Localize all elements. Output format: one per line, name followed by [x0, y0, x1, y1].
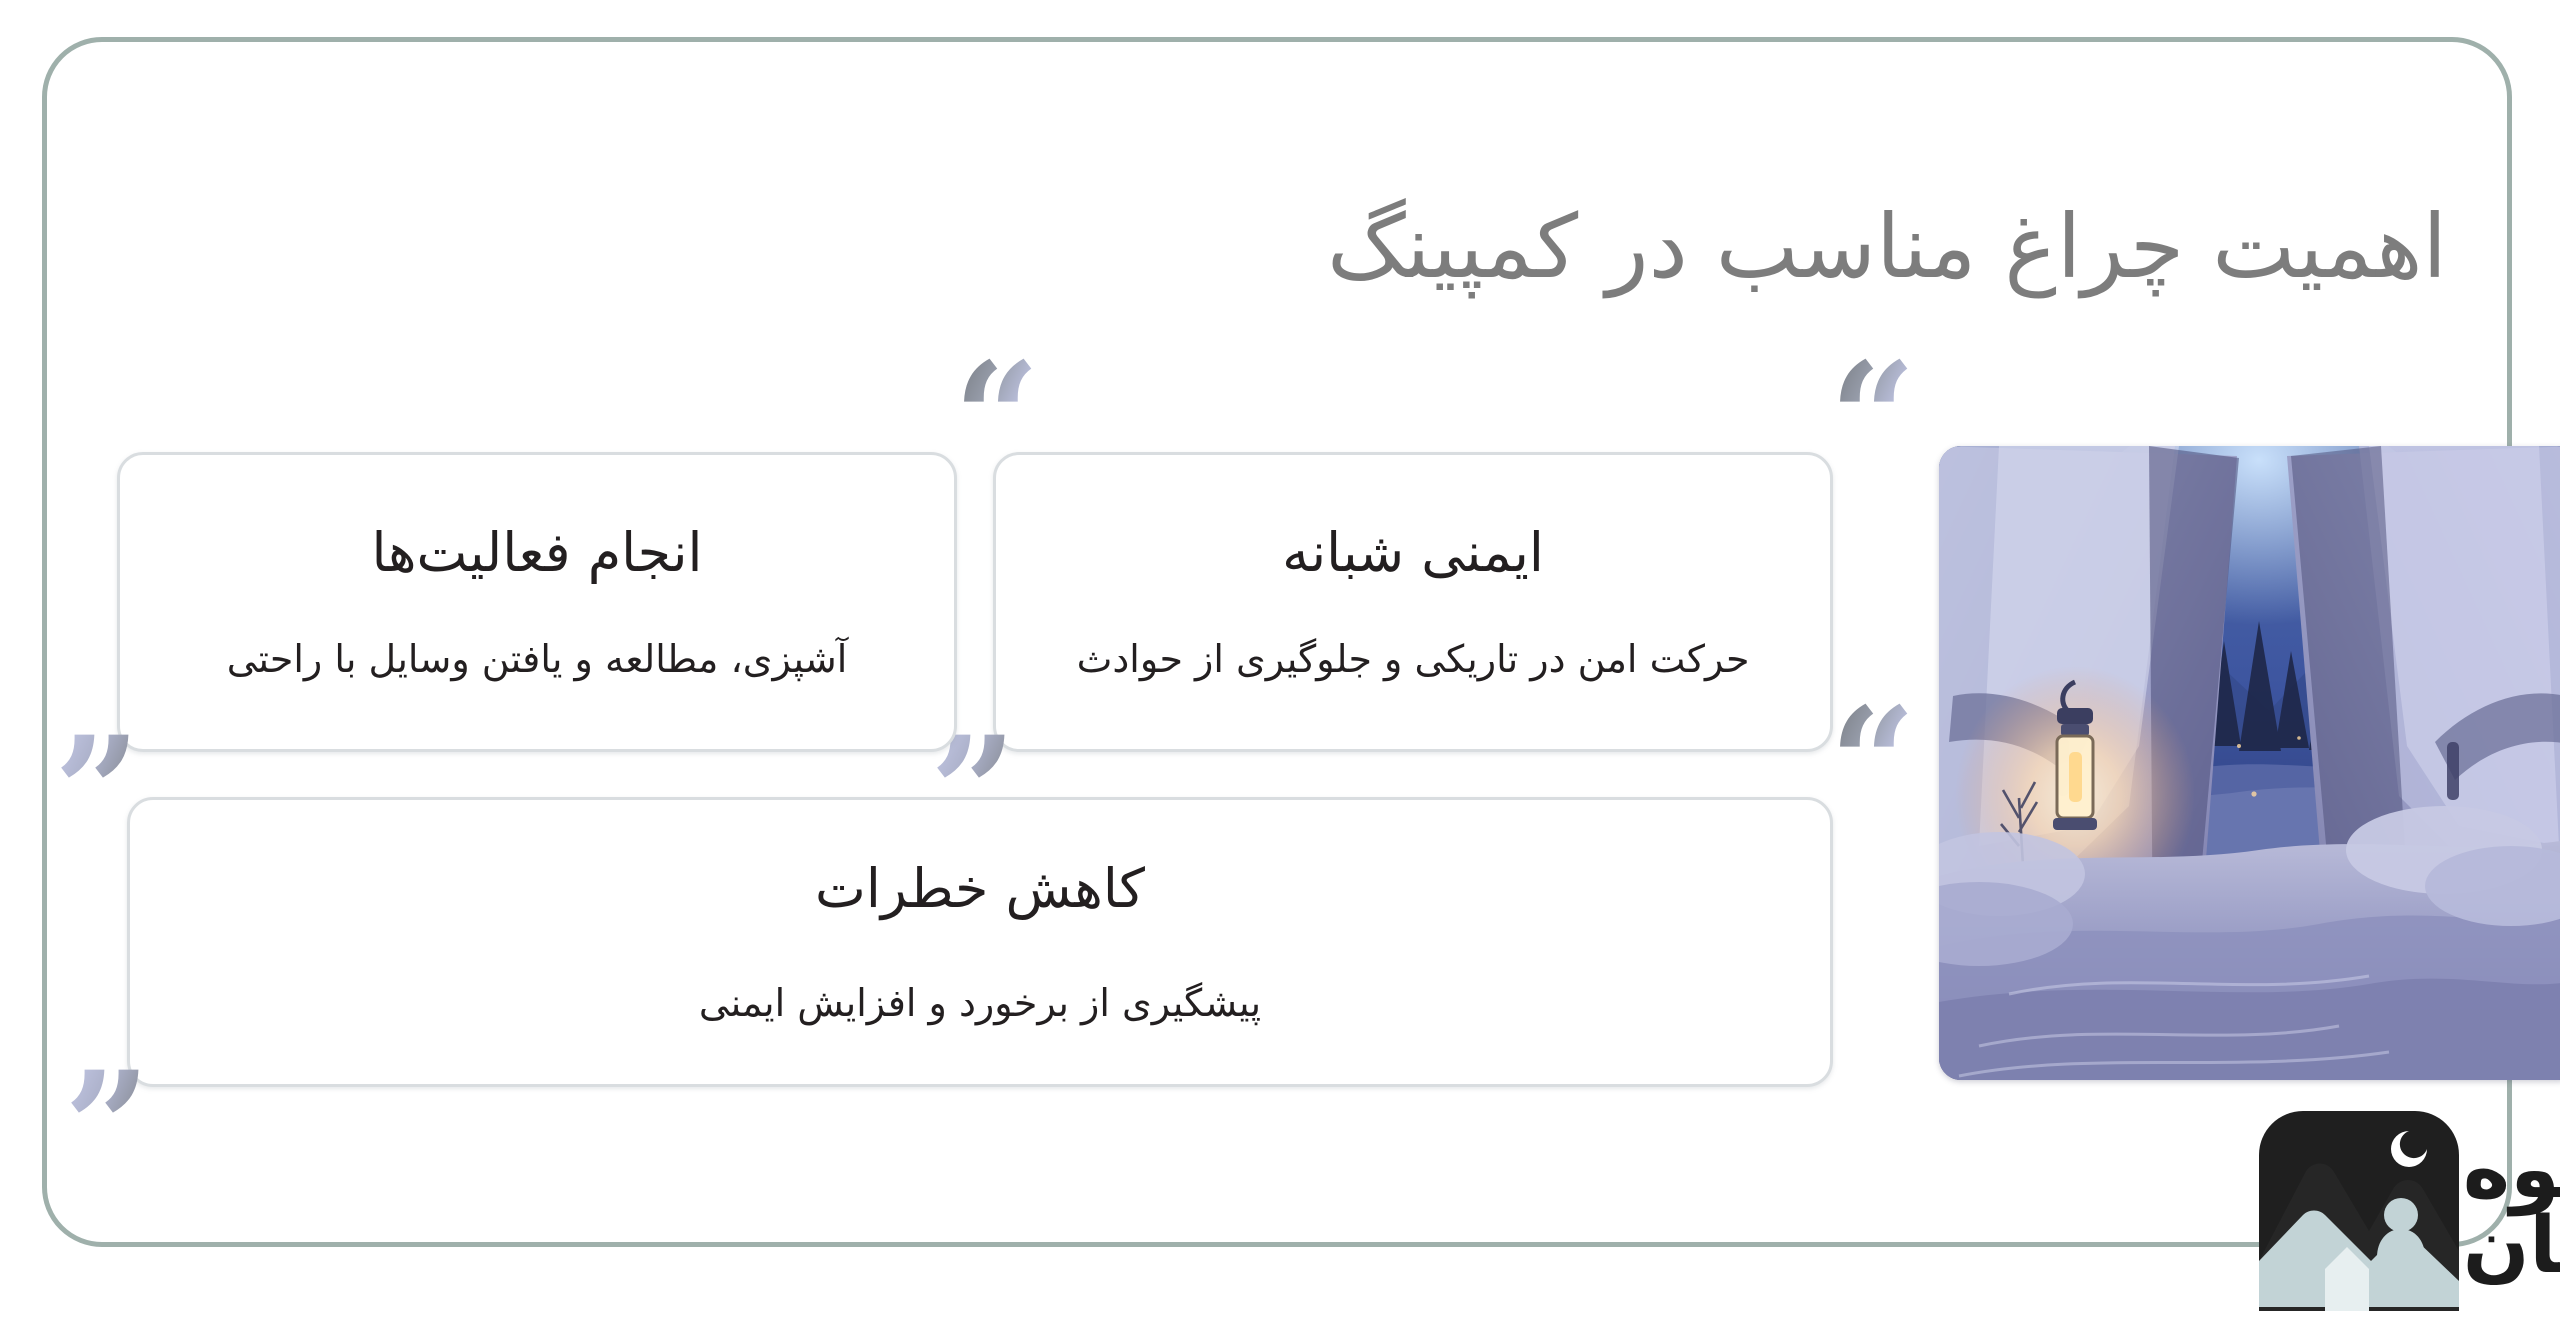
logo-wordmark: کوه مان [2463, 1116, 2560, 1306]
card-content: انجام فعالیت‌ها آشپزی، مطالعه و یافتن وس… [120, 455, 954, 749]
card-body: حرکت امن در تاریکی و جلوگیری از حوادث [1077, 633, 1750, 686]
open-quote-icon: “ [1830, 688, 1916, 838]
logo-line-kooh: کوه [2463, 1133, 2560, 1207]
quote-card-activities[interactable]: “ ” انجام فعالیت‌ها آشپزی، مطالعه و یافت… [117, 452, 957, 752]
card-heading: ایمنی شبانه [1282, 518, 1544, 588]
card-heading: کاهش خطرات [815, 854, 1145, 924]
quote-card-night-safety[interactable]: “ ” ایمنی شبانه حرکت امن در تاریکی و جلو… [993, 452, 1833, 752]
mountain-tent-logo-icon [2259, 1111, 2459, 1311]
quote-card-risk-reduction[interactable]: “ ” کاهش خطرات پیشگیری از برخورد و افزای… [127, 797, 1833, 1087]
card-heading: انجام فعالیت‌ها [372, 518, 703, 588]
slide-frame: اهمیت چراغ مناسب در کمپینگ “ ” ایمنی شبا… [42, 37, 2512, 1247]
open-quote-icon: “ [1830, 343, 1916, 493]
page-title: اهمیت چراغ مناسب در کمپینگ [947, 192, 2447, 302]
tent-interior-night-lantern-photo [1939, 446, 2560, 1080]
card-content: ایمنی شبانه حرکت امن در تاریکی و جلوگیری… [996, 455, 1830, 749]
logo-line-man: مان [2463, 1211, 2560, 1283]
card-content: کاهش خطرات پیشگیری از برخورد و افزایش ای… [130, 800, 1830, 1084]
koohe-man-logo: کوه مان [2157, 1100, 2560, 1322]
card-body: آشپزی، مطالعه و یافتن وسایل با راحتی [227, 633, 848, 686]
card-body: پیشگیری از برخورد و افزایش ایمنی [699, 977, 1261, 1030]
